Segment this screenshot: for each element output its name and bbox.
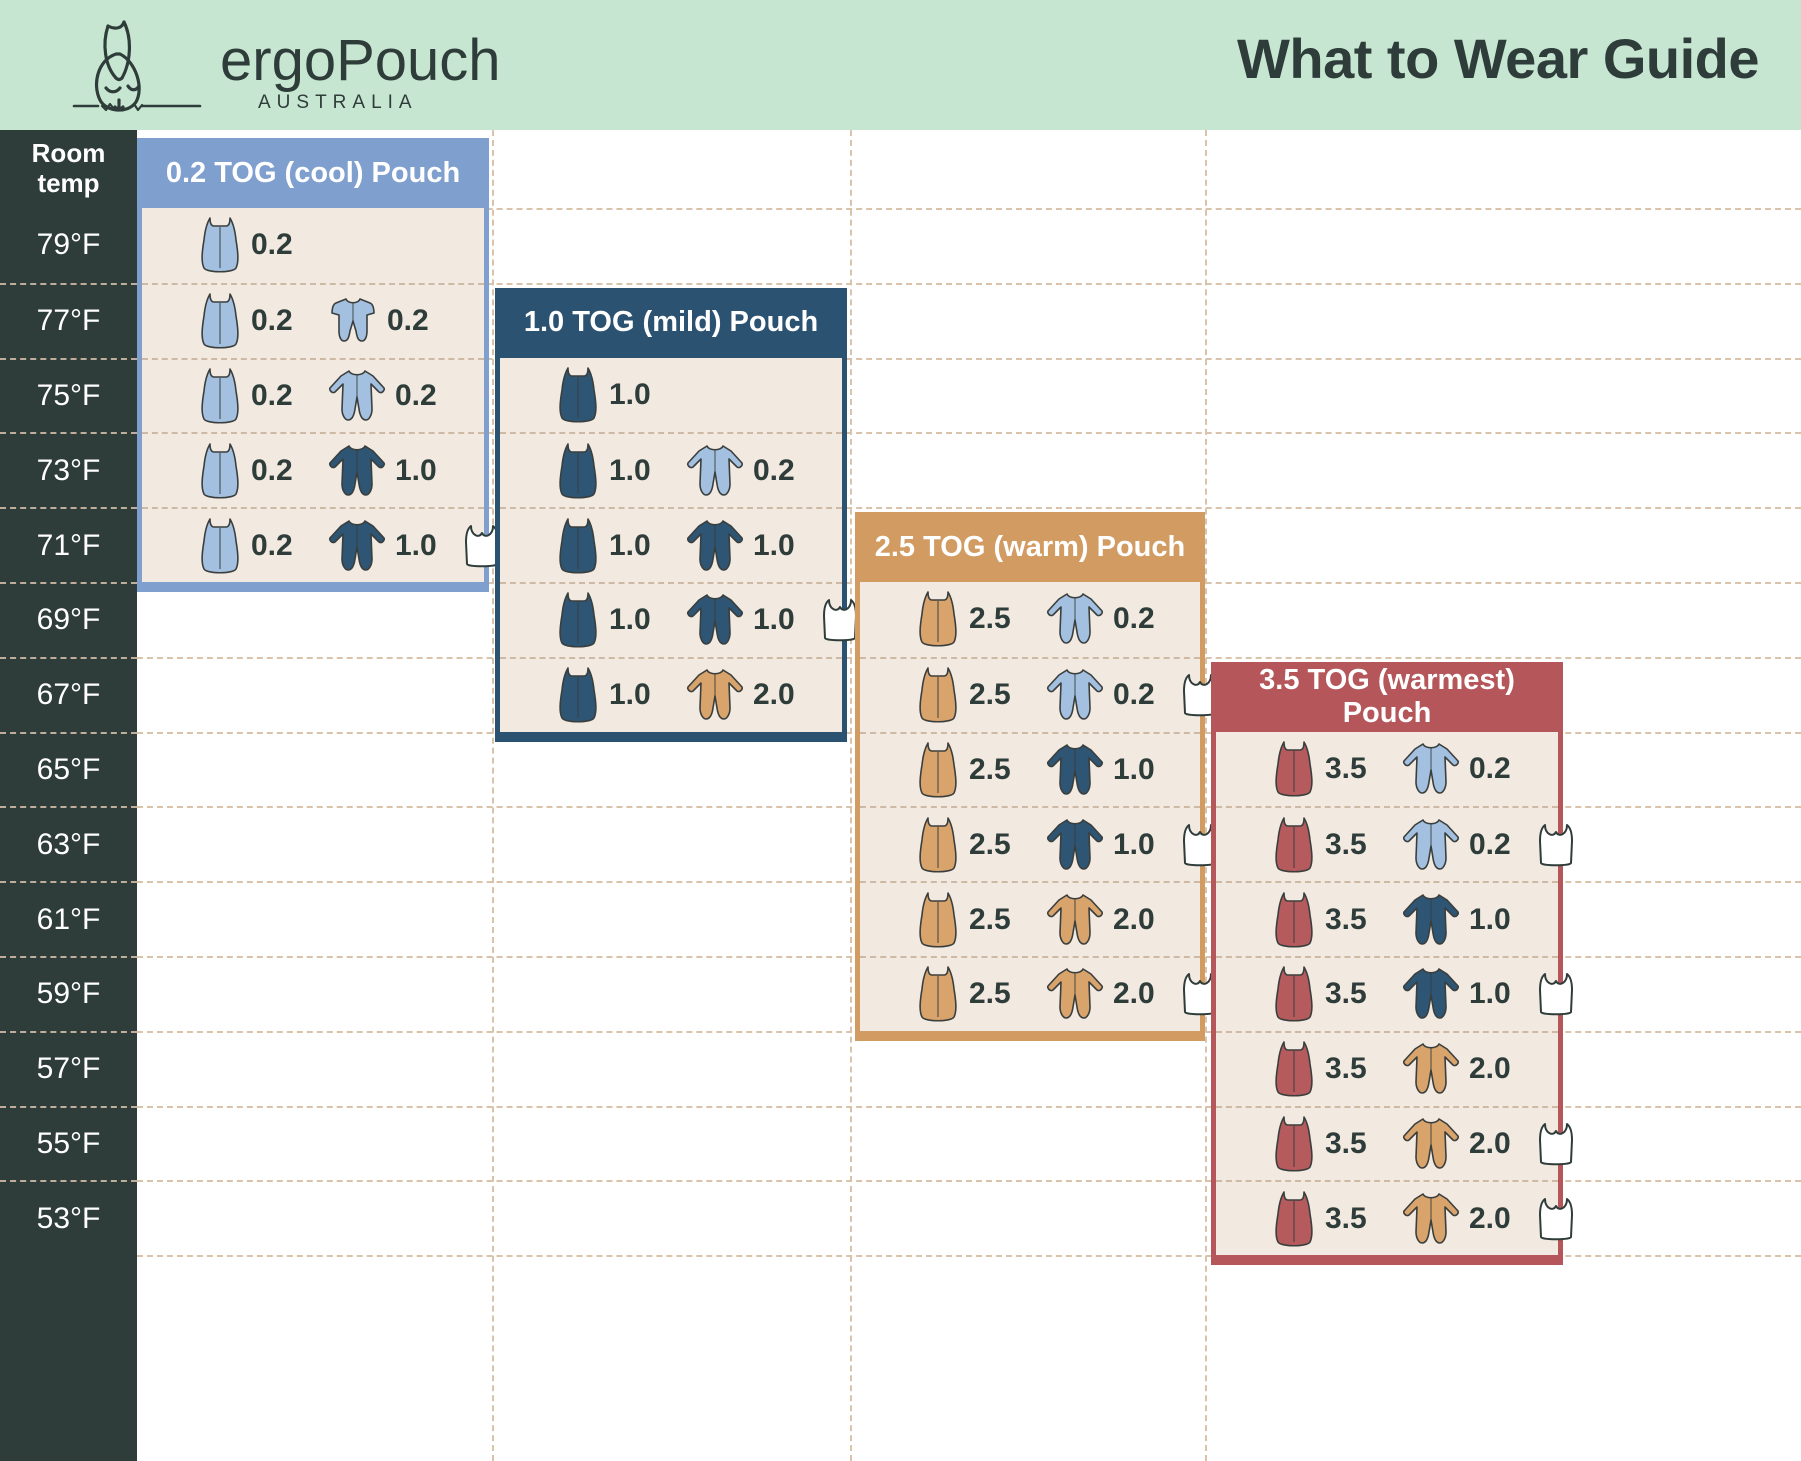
garment-slot	[820, 584, 860, 657]
tog-row[interactable]: 3.5 0.2	[1216, 806, 1558, 881]
garment-slot: 1.0	[327, 434, 437, 507]
garment-slot: 1.0	[1045, 808, 1155, 881]
long-sleeve-suit-icon	[327, 517, 387, 575]
garment-slot: 0.2	[1401, 732, 1511, 807]
tog-value-label: 1.0	[1113, 828, 1155, 862]
garment-slot: 3.5	[1271, 808, 1367, 881]
garment-slot: 1.0	[555, 434, 651, 507]
garment-slot: 1.0	[327, 509, 437, 582]
ergopouch-logo: ergoPouch AUSTRALIA	[72, 14, 492, 118]
sleeping-bag-icon	[197, 290, 243, 352]
tog-row[interactable]: 3.5 2.0	[1216, 1031, 1558, 1106]
temp-row-67f: 67°F	[0, 657, 137, 732]
tog-value-label: 2.0	[1113, 903, 1155, 937]
tog-title-text: 1.0 TOG (mild) Pouch	[524, 306, 818, 339]
tog-panel-title-cool: 0.2 TOG (cool) Pouch	[137, 138, 489, 208]
sleeping-bag-icon	[1271, 1038, 1317, 1100]
garment-slot: 2.5	[915, 582, 1011, 657]
tog-row[interactable]: 3.5 1.0	[1216, 881, 1558, 956]
sleeping-bag-icon	[1271, 1188, 1317, 1250]
garment-slot: 3.5	[1271, 958, 1367, 1031]
temp-label: 63°F	[37, 828, 101, 862]
temp-label: 73°F	[37, 454, 101, 488]
sleeping-bag-icon	[555, 664, 601, 726]
tog-value-label: 2.5	[969, 903, 1011, 937]
garment-slot: 1.0	[685, 509, 795, 582]
tog-value-label: 2.0	[1113, 977, 1155, 1011]
temp-label: 65°F	[37, 753, 101, 787]
temp-label: 61°F	[37, 903, 101, 937]
tog-value-label: 2.5	[969, 828, 1011, 862]
tog-panel-mild[interactable]: 1.0 TOG (mild) Pouch 1.0 1.0 0.2 1.0 1.0…	[495, 288, 847, 742]
grid-vline	[850, 130, 852, 1461]
tog-row[interactable]: 2.5 1.0	[860, 806, 1200, 881]
long-sleeve-suit-icon	[327, 367, 387, 425]
temp-row-57f: 57°F	[0, 1031, 137, 1106]
tog-row[interactable]: 1.0 1.0	[500, 582, 842, 657]
long-sleeve-suit-icon	[1045, 891, 1105, 949]
sleeping-bag-icon	[555, 440, 601, 502]
garment-slot: 2.5	[915, 883, 1011, 956]
tog-row[interactable]: 1.0 0.2	[500, 432, 842, 507]
tog-value-label: 3.5	[1325, 1127, 1367, 1161]
long-sleeve-suit-icon	[1401, 1115, 1461, 1173]
garment-slot	[1536, 958, 1576, 1031]
garment-slot: 2.0	[1401, 1033, 1511, 1106]
sleeping-bag-icon	[197, 214, 243, 276]
short-sleeve-suit-icon	[327, 295, 379, 347]
temp-row-59f: 59°F	[0, 956, 137, 1031]
room-temp-header-line1: Room	[32, 138, 106, 168]
tog-value-label: 0.2	[1113, 602, 1155, 636]
grid-vline	[492, 130, 494, 1461]
long-sleeve-suit-icon	[1045, 965, 1105, 1023]
tog-panel-title-warm: 2.5 TOG (warm) Pouch	[855, 512, 1205, 582]
temp-row-71f: 71°F	[0, 507, 137, 582]
tog-row[interactable]: 2.5 2.0	[860, 956, 1200, 1031]
tog-row[interactable]: 0.2 1.0	[142, 432, 484, 507]
temp-row-69f: 69°F	[0, 582, 137, 657]
temp-label: 75°F	[37, 379, 101, 413]
temp-label: 71°F	[37, 529, 101, 563]
temp-label: 53°F	[37, 1202, 101, 1236]
garment-slot: 0.2	[197, 434, 293, 507]
garment-slot: 1.0	[1045, 734, 1155, 807]
tog-value-label: 1.0	[609, 378, 651, 412]
tog-value-label: 3.5	[1325, 828, 1367, 862]
long-sleeve-suit-icon	[327, 442, 387, 500]
temp-label: 59°F	[37, 977, 101, 1011]
garment-slot: 1.0	[555, 659, 651, 732]
sleeping-bag-icon	[1271, 814, 1317, 876]
grid-vline	[1205, 130, 1207, 1461]
garment-slot: 3.5	[1271, 1182, 1367, 1255]
tog-panel-title-mild: 1.0 TOG (mild) Pouch	[495, 288, 847, 358]
tog-value-label: 1.0	[609, 454, 651, 488]
temp-row-53f: 53°F	[0, 1180, 137, 1255]
tog-value-label: 0.2	[1469, 752, 1511, 786]
long-sleeve-suit-icon	[1045, 666, 1105, 724]
tog-value-label: 1.0	[753, 603, 795, 637]
tog-value-label: 2.0	[1469, 1052, 1511, 1086]
garment-slot: 0.2	[685, 434, 795, 507]
long-sleeve-suit-icon	[1401, 891, 1461, 949]
tog-title-text: 0.2 TOG (cool) Pouch	[166, 157, 460, 190]
tog-value-label: 0.2	[251, 304, 293, 338]
garment-slot: 0.2	[1045, 582, 1155, 657]
temp-row-55f: 55°F	[0, 1106, 137, 1181]
singlet-icon	[1536, 1120, 1576, 1168]
garment-slot: 0.2	[327, 360, 437, 433]
garment-slot: 2.0	[1045, 883, 1155, 956]
page-title: What to Wear Guide	[1237, 26, 1759, 91]
tog-value-label: 0.2	[251, 228, 293, 262]
garment-slot: 0.2	[327, 285, 429, 358]
long-sleeve-suit-icon	[685, 591, 745, 649]
tog-value-label: 3.5	[1325, 752, 1367, 786]
tog-row[interactable]: 0.2 0.2	[142, 283, 484, 358]
tog-value-label: 0.2	[251, 529, 293, 563]
garment-slot: 0.2	[197, 509, 293, 582]
long-sleeve-suit-icon	[1401, 1040, 1461, 1098]
tog-row[interactable]: 0.2	[142, 208, 484, 283]
tog-row[interactable]: 0.2 1.0	[142, 507, 484, 582]
long-sleeve-suit-icon	[685, 666, 745, 724]
tog-value-label: 0.2	[251, 379, 293, 413]
garment-slot: 1.0	[555, 584, 651, 657]
tog-panel-body-warmest: 3.5 0.2 3.5 0.2 3.5 1.0 3.5 1.0 3.5	[1216, 732, 1558, 1256]
tog-row[interactable]: 2.5 2.0	[860, 881, 1200, 956]
temp-label: 55°F	[37, 1127, 101, 1161]
tog-value-label: 0.2	[753, 454, 795, 488]
garment-slot: 3.5	[1271, 732, 1367, 807]
garment-slot: 3.5	[1271, 883, 1367, 956]
sleeping-bag-icon	[1271, 963, 1317, 1025]
tog-panel-warmest[interactable]: 3.5 TOG (warmest) Pouch 3.5 0.2 3.5 0.2 …	[1211, 662, 1563, 1266]
tog-panel-body-warm: 2.5 0.2 2.5 0.2 2.5 1.0 2.5 1.0 2.5	[860, 582, 1200, 1031]
garment-slot: 0.2	[1045, 659, 1155, 732]
long-sleeve-suit-icon	[1045, 741, 1105, 799]
long-sleeve-suit-icon	[1401, 740, 1461, 798]
room-temp-header-line2: temp	[37, 168, 99, 198]
sleeping-bag-icon	[197, 515, 243, 577]
long-sleeve-suit-icon	[1045, 590, 1105, 648]
sleeping-bag-icon	[1271, 738, 1317, 800]
tog-value-label: 1.0	[1113, 753, 1155, 787]
long-sleeve-suit-icon	[685, 442, 745, 500]
garment-slot: 2.0	[685, 659, 795, 732]
sleeping-bag-icon	[1271, 1113, 1317, 1175]
tog-value-label: 2.5	[969, 602, 1011, 636]
tog-value-label: 2.5	[969, 977, 1011, 1011]
tog-row[interactable]: 2.5 1.0	[860, 732, 1200, 807]
sleeping-bag-icon	[197, 365, 243, 427]
temp-row-65f: 65°F	[0, 732, 137, 807]
tog-value-label: 0.2	[395, 379, 437, 413]
room-temp-column: Room temp 79°F77°F75°F73°F71°F69°F67°F65…	[0, 130, 137, 1461]
tog-value-label: 2.5	[969, 678, 1011, 712]
tog-value-label: 1.0	[395, 529, 437, 563]
brand-name: ergoPouch	[220, 28, 501, 93]
tog-panel-warm[interactable]: 2.5 TOG (warm) Pouch 2.5 0.2 2.5 0.2 2.5…	[855, 512, 1205, 1041]
garment-slot: 3.5	[1271, 1033, 1367, 1106]
tog-value-label: 3.5	[1325, 1202, 1367, 1236]
garment-slot: 0.2	[1401, 808, 1511, 881]
garment-slot: 0.2	[197, 360, 293, 433]
singlet-icon	[1536, 1195, 1576, 1243]
tog-panel-body-mild: 1.0 1.0 0.2 1.0 1.0 1.0 1.0 1.0 2.0	[500, 358, 842, 732]
tog-row[interactable]: 3.5 1.0	[1216, 956, 1558, 1031]
garment-slot: 1.0	[1401, 958, 1511, 1031]
room-temp-header: Room temp	[0, 130, 137, 208]
garment-slot: 2.0	[1401, 1108, 1511, 1181]
temp-label: 69°F	[37, 603, 101, 637]
sleeping-bag-icon	[555, 364, 601, 426]
tog-panel-cool[interactable]: 0.2 TOG (cool) Pouch 0.2 0.2 0.2 0.2 0.2…	[137, 138, 489, 592]
garment-slot: 1.0	[1401, 883, 1511, 956]
garment-slot: 2.5	[915, 808, 1011, 881]
tog-value-label: 3.5	[1325, 903, 1367, 937]
long-sleeve-suit-icon	[685, 517, 745, 575]
tog-panel-body-cool: 0.2 0.2 0.2 0.2 0.2 0.2 1.0 0.2 1.0	[142, 208, 484, 582]
long-sleeve-suit-icon	[1045, 816, 1105, 874]
garment-slot: 2.0	[1401, 1182, 1511, 1255]
tog-value-label: 1.0	[395, 454, 437, 488]
page-header: ergoPouch AUSTRALIA What to Wear Guide	[0, 0, 1801, 130]
temp-row-63f: 63°F	[0, 806, 137, 881]
long-sleeve-suit-icon	[1401, 965, 1461, 1023]
temp-row-73f: 73°F	[0, 432, 137, 507]
garment-slot: 1.0	[555, 509, 651, 582]
tog-panel-title-warmest: 3.5 TOG (warmest) Pouch	[1211, 662, 1563, 732]
tog-value-label: 1.0	[1469, 903, 1511, 937]
sleeping-bag-icon	[555, 589, 601, 651]
sleeping-bag-icon	[197, 440, 243, 502]
temp-label: 79°F	[37, 228, 101, 262]
sleeping-bag-icon	[915, 739, 961, 801]
temp-row-77f: 77°F	[0, 283, 137, 358]
tog-row[interactable]: 2.5 0.2	[860, 582, 1200, 657]
tog-row[interactable]: 3.5 0.2	[1216, 732, 1558, 807]
tog-value-label: 0.2	[387, 304, 429, 338]
singlet-icon	[820, 596, 860, 644]
tog-row[interactable]: 1.0	[500, 358, 842, 433]
garment-slot	[1536, 1108, 1576, 1181]
sleeping-bag-icon	[915, 588, 961, 650]
brand-subtitle: AUSTRALIA	[258, 92, 418, 113]
tog-title-text: 2.5 TOG (warm) Pouch	[875, 531, 1185, 564]
tog-value-label: 2.0	[753, 678, 795, 712]
sleeping-bag-icon	[555, 515, 601, 577]
tog-value-label: 3.5	[1325, 977, 1367, 1011]
temp-row-79f: 79°F	[0, 208, 137, 283]
temp-label: 67°F	[37, 678, 101, 712]
tog-row[interactable]: 0.2 0.2	[142, 358, 484, 433]
garment-slot: 2.5	[915, 958, 1011, 1031]
tog-value-label: 1.0	[609, 603, 651, 637]
tog-value-label: 2.0	[1469, 1127, 1511, 1161]
tog-value-label: 3.5	[1325, 1052, 1367, 1086]
garment-slot	[1536, 808, 1576, 881]
singlet-icon	[1536, 821, 1576, 869]
temp-row-75f: 75°F	[0, 358, 137, 433]
garment-slot: 1.0	[685, 584, 795, 657]
tog-row[interactable]: 3.5 2.0	[1216, 1180, 1558, 1255]
tog-value-label: 1.0	[609, 529, 651, 563]
garment-slot: 3.5	[1271, 1108, 1367, 1181]
long-sleeve-suit-icon	[1401, 816, 1461, 874]
temp-label: 57°F	[37, 1052, 101, 1086]
garment-slot: 1.0	[555, 358, 651, 433]
sleeping-bag-icon	[915, 963, 961, 1025]
garment-slot: 0.2	[197, 208, 293, 283]
tog-value-label: 2.5	[969, 753, 1011, 787]
tog-value-label: 2.0	[1469, 1202, 1511, 1236]
long-sleeve-suit-icon	[1401, 1190, 1461, 1248]
tog-title-text: 3.5 TOG (warmest) Pouch	[1211, 664, 1563, 730]
garment-slot: 2.5	[915, 659, 1011, 732]
tog-row[interactable]: 3.5 2.0	[1216, 1106, 1558, 1181]
sleeping-bag-icon	[915, 664, 961, 726]
sleeping-bag-icon	[1271, 889, 1317, 951]
tog-value-label: 0.2	[251, 454, 293, 488]
tog-value-label: 0.2	[1113, 678, 1155, 712]
garment-slot	[1536, 1182, 1576, 1255]
tog-value-label: 1.0	[609, 678, 651, 712]
tog-row[interactable]: 1.0 2.0	[500, 657, 842, 732]
garment-slot: 2.5	[915, 734, 1011, 807]
tog-value-label: 1.0	[1469, 977, 1511, 1011]
temp-label: 77°F	[37, 304, 101, 338]
tog-value-label: 0.2	[1469, 828, 1511, 862]
garment-slot: 2.0	[1045, 958, 1155, 1031]
tog-row[interactable]: 2.5 0.2	[860, 657, 1200, 732]
tog-row[interactable]: 1.0 1.0	[500, 507, 842, 582]
tog-value-label: 1.0	[753, 529, 795, 563]
garment-slot: 0.2	[197, 285, 293, 358]
sleeping-bag-icon	[915, 889, 961, 951]
singlet-icon	[1536, 970, 1576, 1018]
temp-row-61f: 61°F	[0, 881, 137, 956]
sleeping-bag-icon	[915, 814, 961, 876]
